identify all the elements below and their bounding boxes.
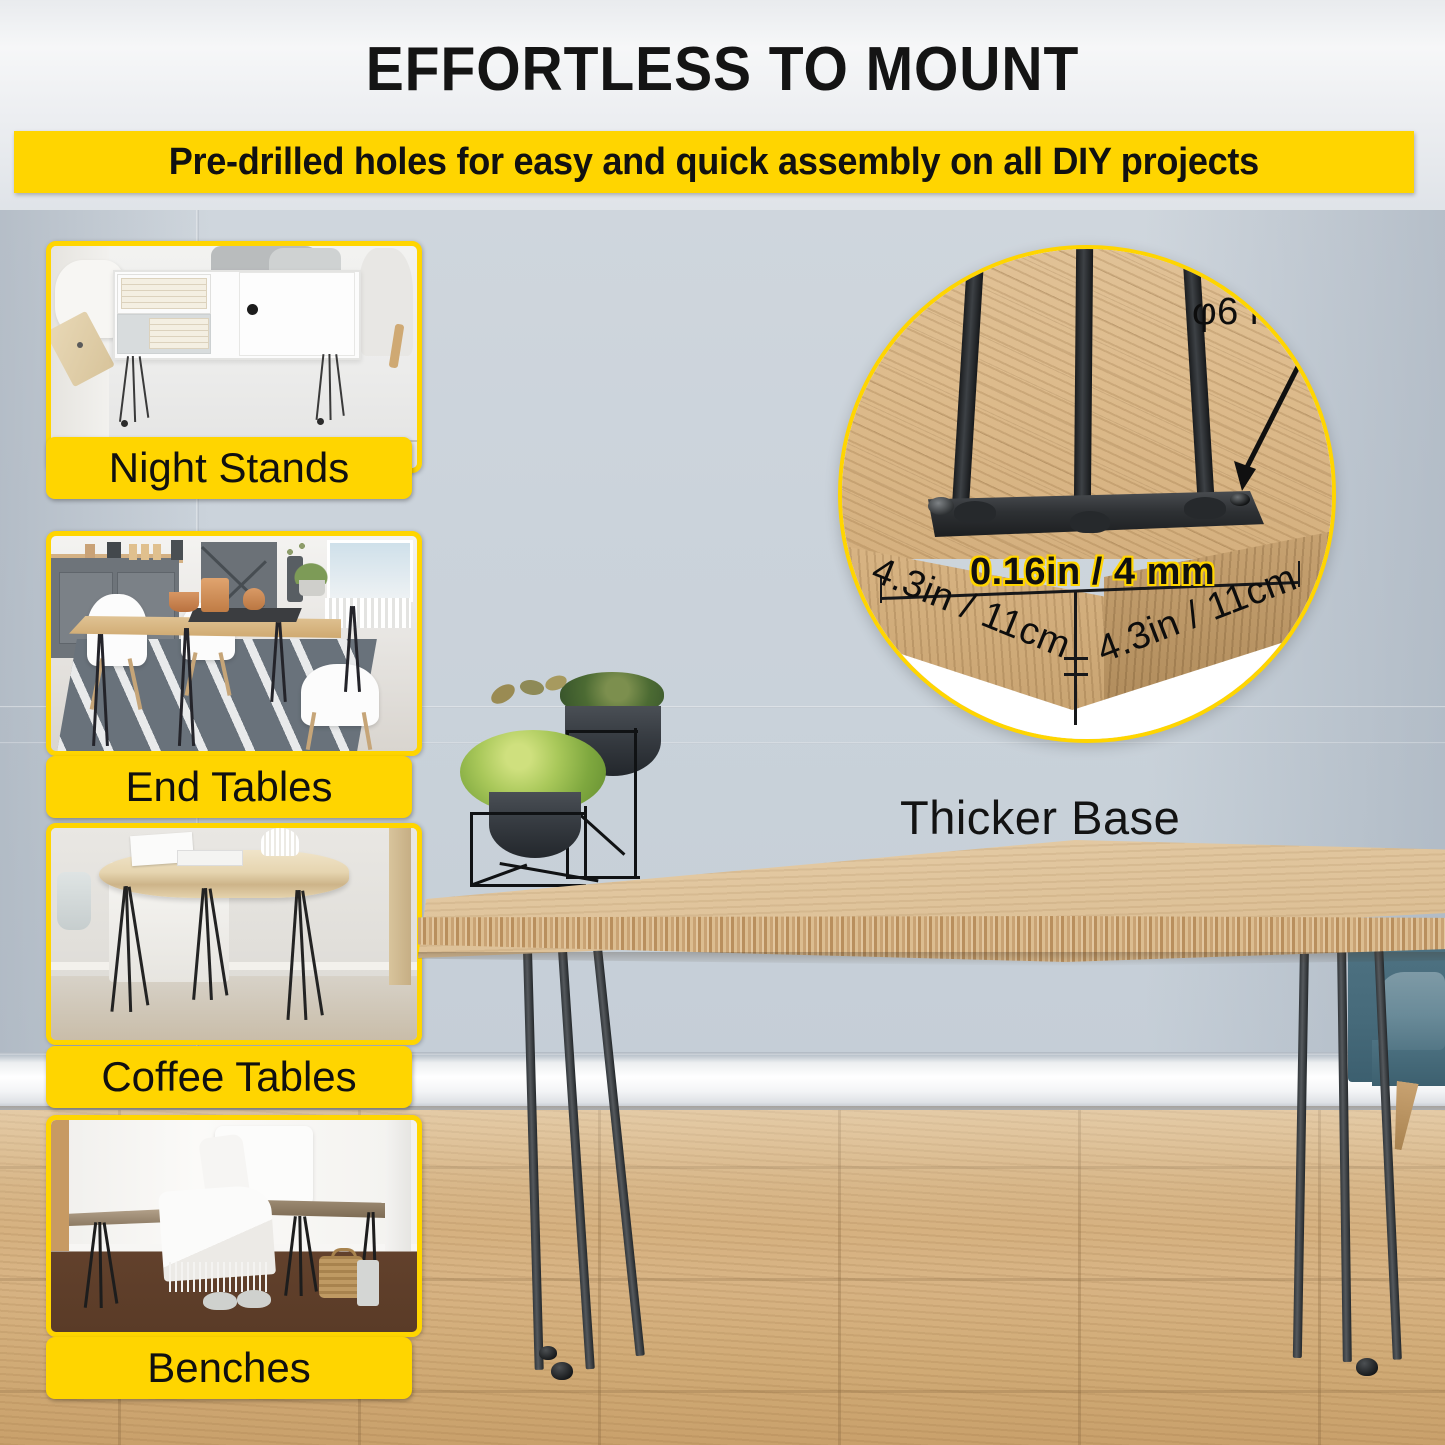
sidebar-label-end-tables: End Tables bbox=[46, 756, 412, 818]
coffee-table-thumbnail-icon bbox=[51, 828, 417, 1040]
sidebar-label-coffee-tables: Coffee Tables bbox=[46, 1046, 412, 1108]
sidebar-label-benches: Benches bbox=[46, 1337, 412, 1399]
sidebar-item-benches[interactable] bbox=[46, 1115, 422, 1337]
plate-thickness-label: 0.16in / 4 mm bbox=[970, 551, 1215, 594]
promo-image-canvas: EFFORTLESS TO MOUNT Pre-drilled holes fo… bbox=[0, 0, 1445, 1445]
table-foot-front-left bbox=[551, 1362, 573, 1380]
armchair-arm bbox=[1378, 972, 1445, 1050]
thicker-base-caption: Thicker Base bbox=[900, 790, 1180, 845]
thickness-tick-upper bbox=[1064, 657, 1088, 660]
subtitle-banner: Pre-drilled holes for easy and quick ass… bbox=[14, 131, 1414, 193]
sidebar-item-label: End Tables bbox=[125, 763, 332, 811]
stand-wire bbox=[566, 730, 638, 733]
stand-wire bbox=[584, 806, 587, 880]
screw-head-icon bbox=[928, 497, 954, 515]
dimension-tick-right bbox=[1298, 561, 1300, 587]
nightstand-thumbnail-icon bbox=[51, 246, 417, 468]
table-foot-front-left-2 bbox=[539, 1346, 557, 1360]
magnified-base-detail-callout: φ6 mm 0.16in / 4 mm 4.3in / 11cm 4.3in /… bbox=[838, 245, 1336, 743]
planter-pot-front bbox=[489, 792, 581, 858]
stand-wire bbox=[634, 728, 637, 878]
table-foot-front-right bbox=[1356, 1358, 1378, 1376]
subtitle-text: Pre-drilled holes for easy and quick ass… bbox=[169, 141, 1259, 184]
hairpin-rod-center bbox=[1074, 245, 1094, 523]
stand-wire bbox=[470, 812, 473, 886]
hole-leader-arrow-icon bbox=[1210, 329, 1330, 509]
rod-weld-left bbox=[954, 501, 996, 523]
sidebar-item-coffee-tables[interactable] bbox=[46, 823, 422, 1045]
sidebar-item-label: Coffee Tables bbox=[101, 1053, 356, 1101]
sidebar-item-label: Benches bbox=[147, 1344, 310, 1392]
rod-weld-center bbox=[1070, 511, 1110, 533]
thickness-tick-lower bbox=[1064, 673, 1088, 676]
end-table-thumbnail-icon bbox=[51, 536, 417, 751]
sidebar-label-night-stands: Night Stands bbox=[46, 437, 412, 499]
page-title: EFFORTLESS TO MOUNT bbox=[58, 34, 1387, 105]
sidebar-item-label: Night Stands bbox=[109, 444, 349, 492]
bench-thumbnail-icon bbox=[51, 1120, 417, 1332]
sidebar-item-end-tables[interactable] bbox=[46, 531, 422, 756]
stand-wire bbox=[470, 812, 586, 815]
hole-diameter-label: φ6 mm bbox=[1192, 291, 1314, 334]
